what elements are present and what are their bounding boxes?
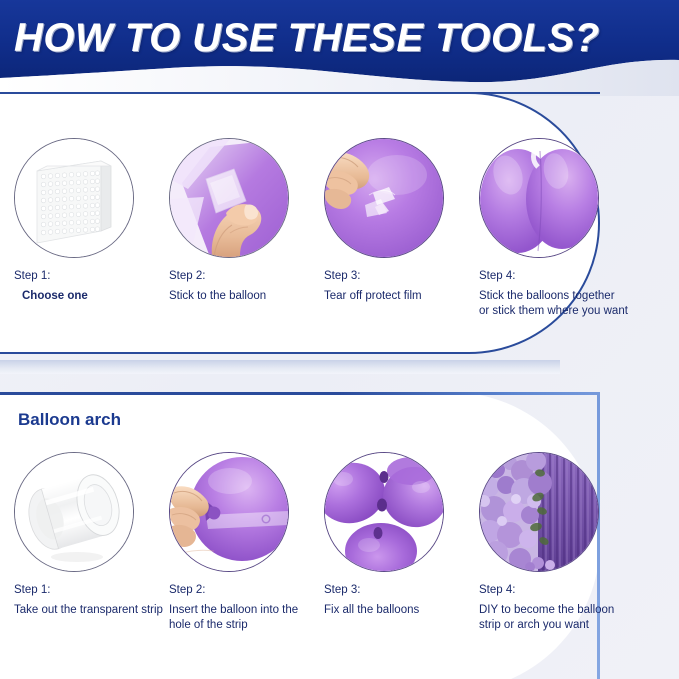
step-item: Step 1: Choose one	[14, 138, 169, 319]
balloons-fixed-cluster-image	[325, 453, 443, 571]
step-image-circle	[14, 138, 134, 258]
step-image-circle	[14, 452, 134, 572]
section-title-balloon-arch: Balloon arch	[18, 410, 121, 430]
page-title: HOW TO USE THESE TOOLS?	[14, 16, 674, 61]
step-label: Step 3:	[324, 584, 479, 596]
finished-balloon-arch-image	[480, 453, 598, 571]
step-label: Step 4:	[479, 270, 634, 282]
inserting-balloon-image	[170, 453, 288, 571]
step-item: Step 1: Take out the transparent strip	[14, 452, 169, 633]
step-text: Fix all the balloons	[324, 603, 479, 618]
step-image-circle	[169, 452, 289, 572]
step-text: DIY to become the balloon strip or arch …	[479, 603, 634, 632]
step-image-circle	[324, 452, 444, 572]
step-label: Step 2:	[169, 270, 324, 282]
hand-sticking-strip-image	[170, 139, 288, 257]
glue-dot-sheet-image	[15, 139, 133, 257]
transparent-strip-roll-image	[15, 453, 133, 571]
step-item: Step 4: DIY to become the balloon strip …	[479, 452, 634, 633]
step-label: Step 3:	[324, 270, 479, 282]
infographic-page: HOW TO USE THESE TOOLS? Balloon arch	[0, 0, 679, 679]
step-text: Stick to the balloon	[169, 289, 324, 304]
step-label: Step 4:	[479, 584, 634, 596]
step-image-circle	[169, 138, 289, 258]
header-banner: HOW TO USE THESE TOOLS?	[0, 0, 679, 96]
step-text: Choose one	[14, 289, 169, 304]
step-text: Take out the transparent strip	[14, 603, 169, 618]
steps-row-glue-dots: Step 1: Choose one	[14, 138, 664, 319]
step-text: Insert the balloon into the hole of the …	[169, 603, 324, 632]
step-item: Step 2: Stick to the balloon	[169, 138, 324, 319]
step-item: Step 2: Insert the balloon into the hole…	[169, 452, 324, 633]
step-label: Step 1:	[14, 584, 169, 596]
step-image-circle	[479, 138, 599, 258]
panel-divider-band	[0, 360, 560, 374]
step-text: Stick the balloons together or stick the…	[479, 289, 634, 318]
step-item: Step 3: Tear off protect film	[324, 138, 479, 319]
two-balloons-joined-image	[480, 139, 598, 257]
peeling-film-image	[325, 139, 443, 257]
step-label: Step 1:	[14, 270, 169, 282]
step-text: Tear off protect film	[324, 289, 479, 304]
step-image-circle	[479, 452, 599, 572]
step-item: Step 4: Stick the balloons together or s…	[479, 138, 634, 319]
step-label: Step 2:	[169, 584, 324, 596]
step-item: Step 3: Fix all the balloons	[324, 452, 479, 633]
steps-row-balloon-arch: Step 1: Take out the transparent strip	[14, 452, 664, 633]
step-image-circle	[324, 138, 444, 258]
